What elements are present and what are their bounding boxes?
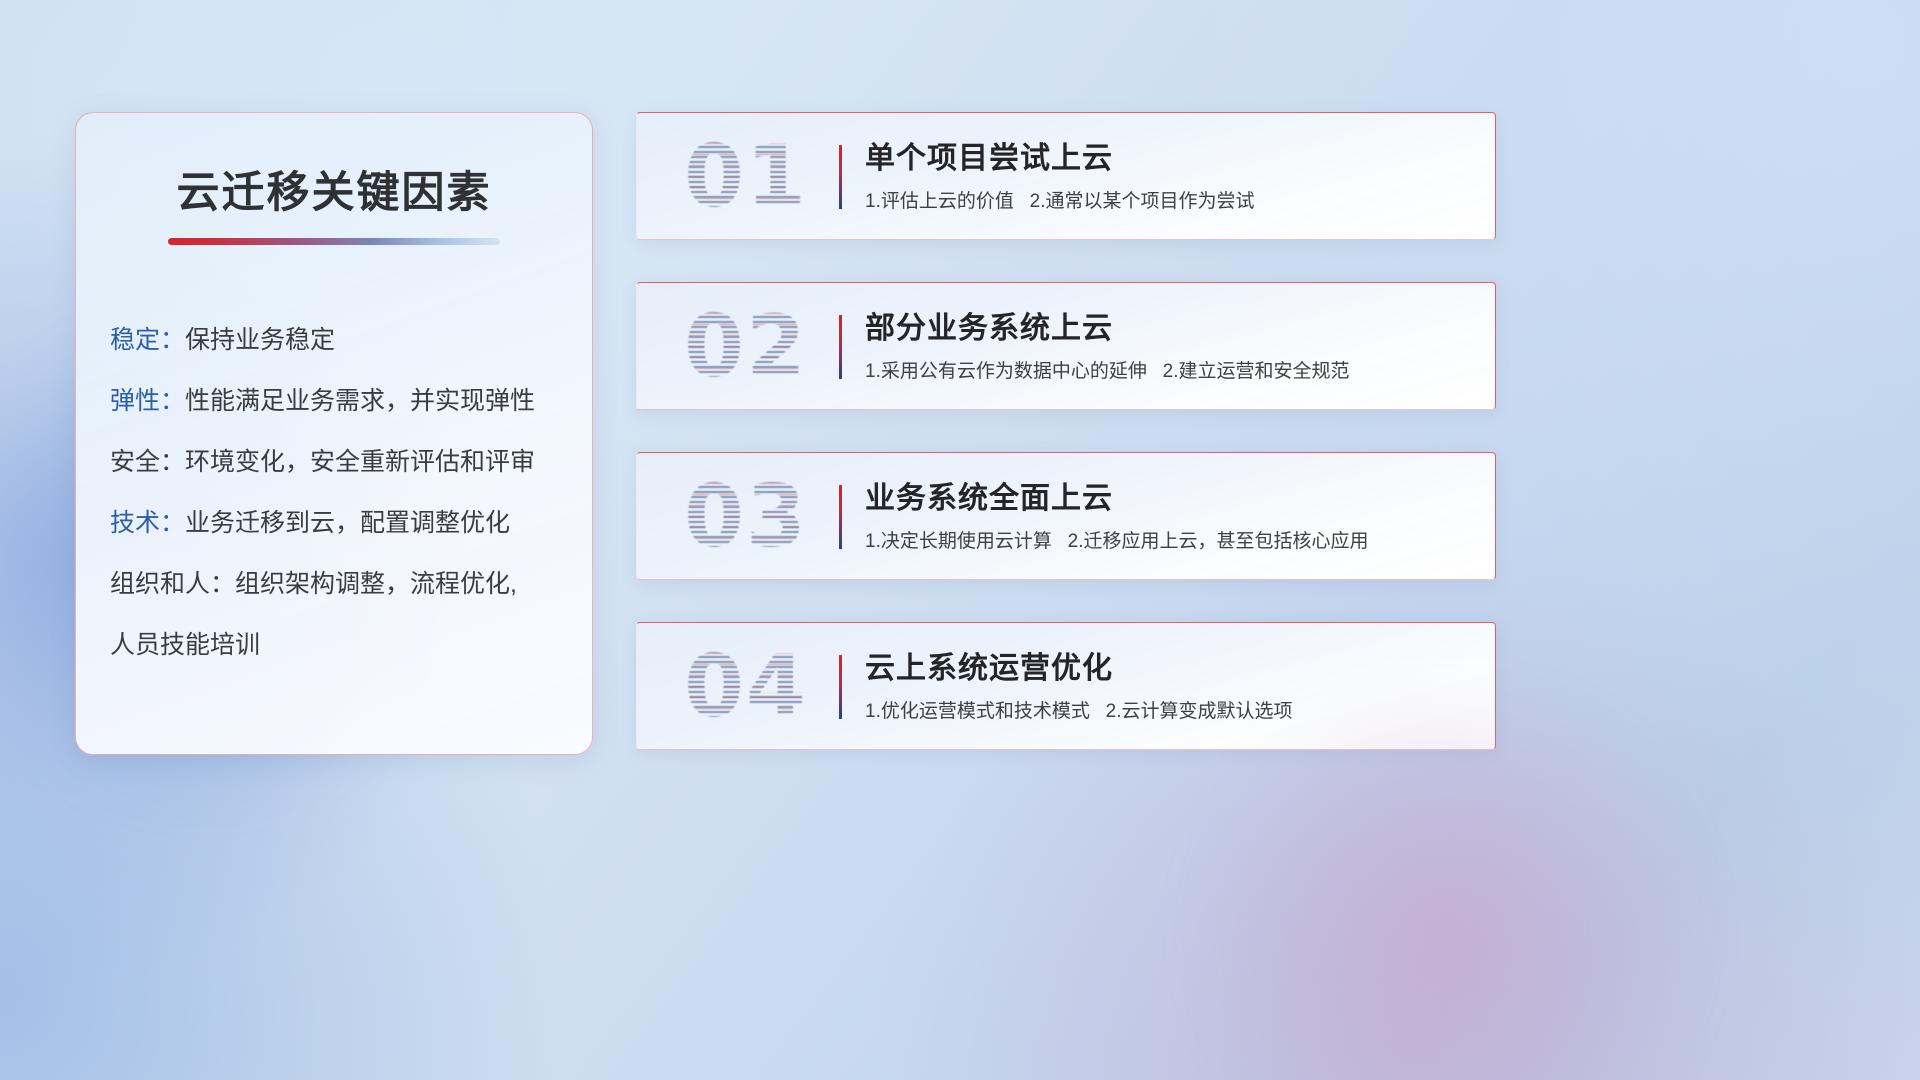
stage-number: 02 <box>661 291 831 403</box>
factor-item: 技术：业务迁移到云，配置调整优化 <box>110 493 592 554</box>
factor-label: 安全： <box>110 448 185 476</box>
key-factors-panel: 云迁移关键因素 稳定：保持业务稳定 弹性：性能满足业务需求，并实现弹性 安全：环… <box>75 112 593 755</box>
stage-card[interactable]: 02 02 部分业务系统上云 1.采用公有云作为数据中心的延伸 2.建立运营和安… <box>636 282 1496 410</box>
factor-item-continuation: 人员技能培训 <box>110 615 592 676</box>
factor-item: 安全：环境变化，安全重新评估和评审 <box>110 432 592 493</box>
factor-text: 保持业务稳定 <box>185 326 335 354</box>
factor-text: 业务迁移到云，配置调整优化 <box>185 509 510 537</box>
accent-bar <box>839 655 842 719</box>
factor-label: 稳定： <box>110 326 185 354</box>
stage-body: 业务系统全面上云 1.决定长期使用云计算 2.迁移应用上云，甚至包括核心应用 <box>865 479 1369 555</box>
stage-title: 云上系统运营优化 <box>865 649 1293 689</box>
factor-text: 人员技能培训 <box>110 631 260 659</box>
stage-title: 业务系统全面上云 <box>865 479 1369 519</box>
accent-bar <box>839 145 842 209</box>
accent-bar <box>839 485 842 549</box>
factor-label: 弹性： <box>110 387 185 415</box>
stage-card[interactable]: 03 03 业务系统全面上云 1.决定长期使用云计算 2.迁移应用上云，甚至包括… <box>636 452 1496 580</box>
slide-root: 云迁移关键因素 稳定：保持业务稳定 弹性：性能满足业务需求，并实现弹性 安全：环… <box>0 0 1920 1080</box>
stage-body: 单个项目尝试上云 1.评估上云的价值 2.通常以某个项目作为尝试 <box>865 139 1255 215</box>
factor-item: 稳定：保持业务稳定 <box>110 310 592 371</box>
factor-text: 组织架构调整，流程优化, <box>235 570 517 598</box>
stage-card-list: 01 01 单个项目尝试上云 1.评估上云的价值 2.通常以某个项目作为尝试 0… <box>636 112 1496 750</box>
accent-bar <box>839 315 842 379</box>
factor-label: 组织和人： <box>110 570 235 598</box>
factor-text: 环境变化，安全重新评估和评审 <box>185 448 535 476</box>
stage-description: 1.决定长期使用云计算 2.迁移应用上云，甚至包括核心应用 <box>865 529 1369 555</box>
stage-number: 04 <box>661 631 831 743</box>
factor-item: 组织和人：组织架构调整，流程优化, <box>110 554 592 615</box>
stage-body: 部分业务系统上云 1.采用公有云作为数据中心的延伸 2.建立运营和安全规范 <box>865 309 1350 385</box>
factor-list: 稳定：保持业务稳定 弹性：性能满足业务需求，并实现弹性 安全：环境变化，安全重新… <box>110 310 592 676</box>
title-underline-rule <box>168 238 500 245</box>
panel-title: 云迁移关键因素 <box>76 158 592 220</box>
stage-card[interactable]: 04 04 云上系统运营优化 1.优化运营模式和技术模式 2.云计算变成默认选项 <box>636 622 1496 750</box>
stage-description: 1.采用公有云作为数据中心的延伸 2.建立运营和安全规范 <box>865 359 1350 385</box>
stage-description: 1.评估上云的价值 2.通常以某个项目作为尝试 <box>865 189 1255 215</box>
factor-text: 性能满足业务需求，并实现弹性 <box>185 387 535 415</box>
stage-title: 部分业务系统上云 <box>865 309 1350 349</box>
factor-item: 弹性：性能满足业务需求，并实现弹性 <box>110 371 592 432</box>
factor-label: 技术： <box>110 509 185 537</box>
stage-body: 云上系统运营优化 1.优化运营模式和技术模式 2.云计算变成默认选项 <box>865 649 1293 725</box>
stage-number: 03 <box>661 461 831 573</box>
stage-title: 单个项目尝试上云 <box>865 139 1255 179</box>
stage-card[interactable]: 01 01 单个项目尝试上云 1.评估上云的价值 2.通常以某个项目作为尝试 <box>636 112 1496 240</box>
stage-number: 01 <box>661 121 831 233</box>
stage-description: 1.优化运营模式和技术模式 2.云计算变成默认选项 <box>865 699 1293 725</box>
